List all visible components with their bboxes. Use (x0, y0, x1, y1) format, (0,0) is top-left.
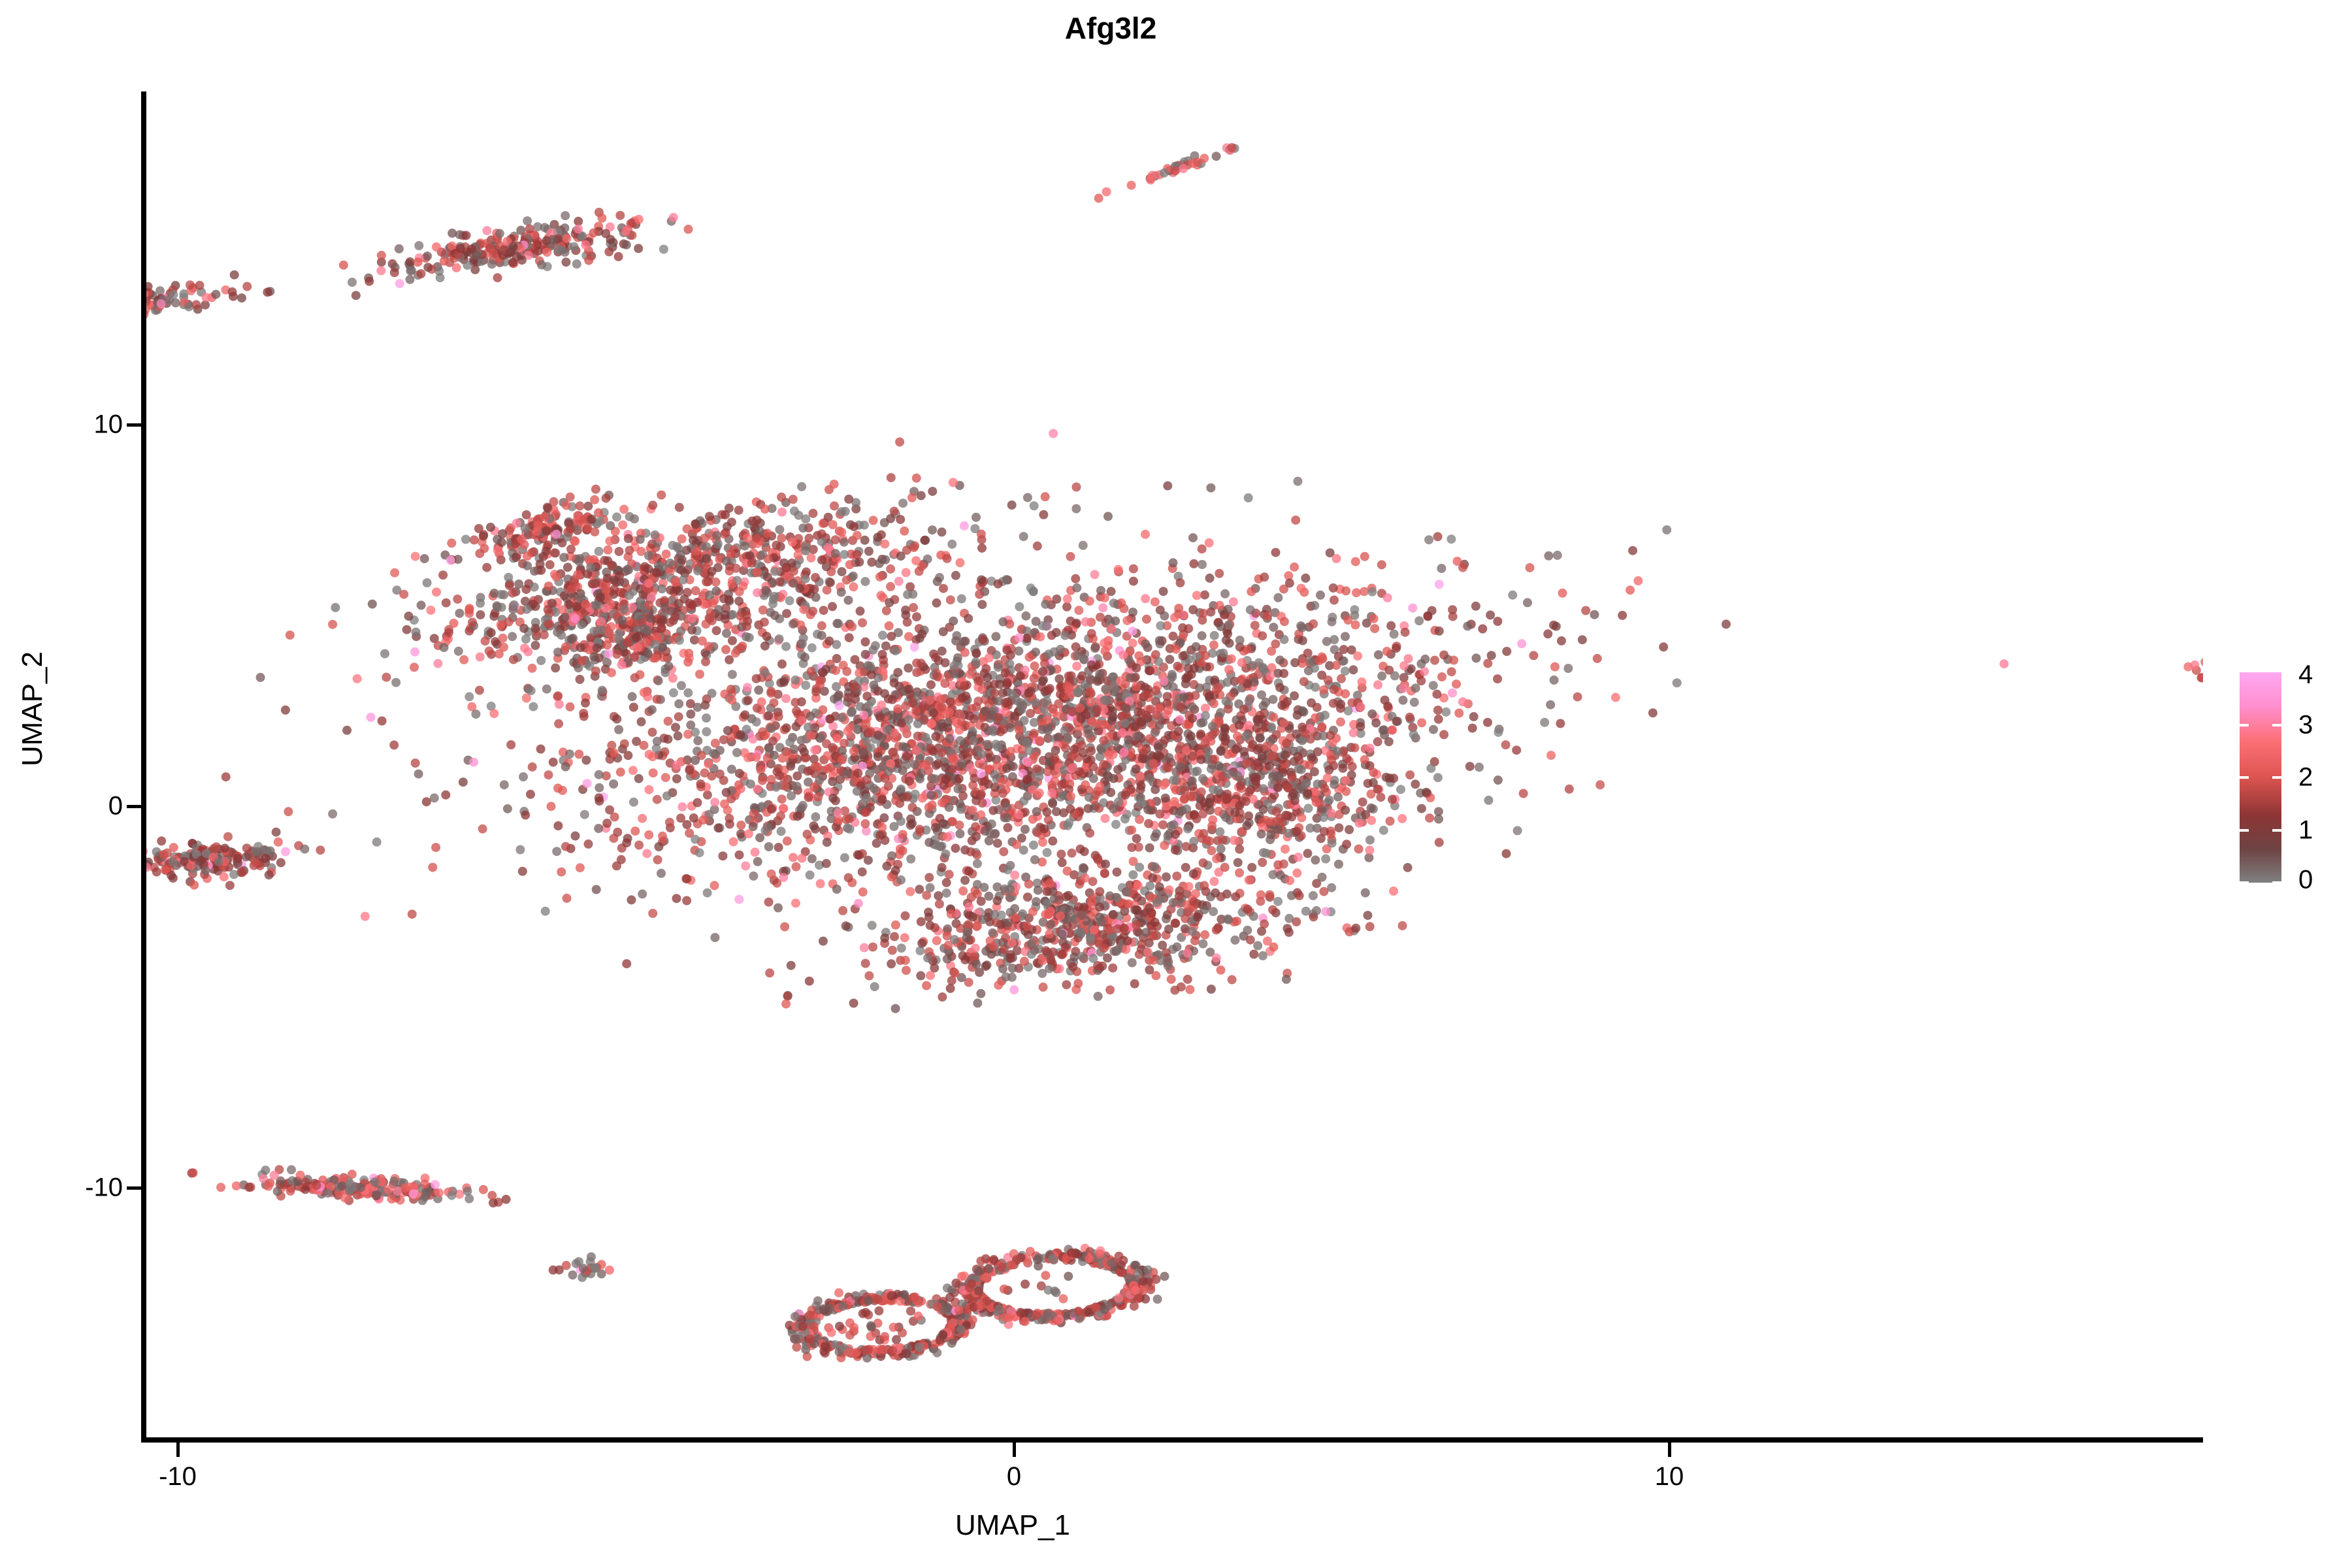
x-tick-label: 10 (1655, 1462, 1684, 1492)
colorbar-tick-label: 3 (2298, 710, 2313, 740)
colorbar-tick-label: 1 (2298, 815, 2313, 845)
colorbar-tick (2240, 829, 2281, 832)
x-axis-title: UMAP_1 (869, 1509, 1156, 1542)
colorbar-tick (2240, 724, 2281, 727)
page-title: Afg3l2 (0, 10, 2221, 46)
colorbar-tick (2240, 881, 2281, 884)
y-axis-title: UMAP_2 (16, 572, 49, 846)
colorbar-tick-label: 4 (2298, 661, 2313, 690)
umap-feature-plot: Afg3l2 100-10 -10010 UMAP_1 UMAP_2 43210 (0, 0, 2352, 1568)
x-tick-mark (176, 1443, 180, 1457)
colorbar-tick-label: 0 (2298, 866, 2313, 895)
x-axis-line (141, 1437, 2203, 1443)
x-tick-mark (1668, 1443, 1671, 1457)
scatter-points-layer (145, 91, 2203, 1440)
plot-panel (145, 91, 2203, 1440)
x-tick-label: 0 (1007, 1462, 1021, 1492)
colorbar-tick (2240, 776, 2281, 779)
x-tick-mark (1013, 1443, 1016, 1457)
y-tick-mark (127, 423, 141, 427)
y-tick-mark (127, 805, 141, 808)
colorbar-legend: 43210 (2240, 672, 2344, 883)
y-tick-label: -10 (85, 1173, 123, 1203)
colorbar-tick-label: 2 (2298, 763, 2313, 792)
x-tick-label: -10 (159, 1462, 197, 1492)
y-tick-label: 10 (94, 410, 123, 440)
y-tick-label: 0 (108, 792, 123, 821)
y-axis-line (141, 91, 146, 1443)
y-tick-mark (127, 1186, 141, 1190)
